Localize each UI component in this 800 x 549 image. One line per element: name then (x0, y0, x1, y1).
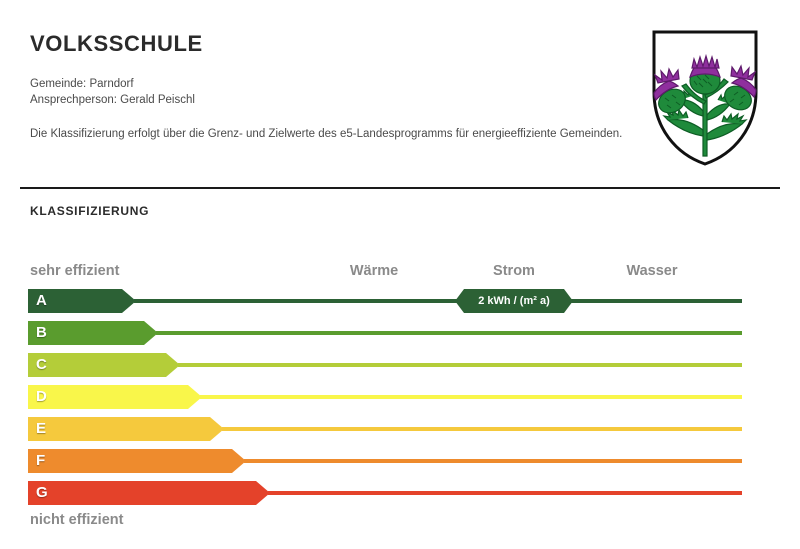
scale-row-a: A (28, 289, 742, 313)
scale-row-f: F (28, 449, 742, 473)
column-header-wasser: Wasser (626, 263, 677, 279)
scale-label-efficient: sehr effizient (30, 263, 119, 279)
bar-body-g (28, 481, 270, 505)
scale-row-d: D (28, 385, 742, 409)
bar-tail-e (222, 427, 742, 431)
bar-letter-a: A (36, 289, 47, 313)
bar-body-c (28, 353, 180, 377)
bar-letter-g: G (36, 481, 48, 505)
bar-body-b (28, 321, 158, 345)
bar-letter-d: D (36, 385, 47, 409)
bar-tail-b (156, 331, 742, 335)
scale-label-inefficient: nicht effizient (30, 512, 123, 528)
scale-row-b: B (28, 321, 742, 345)
bar-body-e (28, 417, 224, 441)
bar-tail-d (200, 395, 742, 399)
bar-letter-b: B (36, 321, 47, 345)
bar-tail-f (244, 459, 742, 463)
column-header-wrme: Wärme (350, 263, 398, 279)
bar-letter-f: F (36, 449, 45, 473)
bar-body-d (28, 385, 202, 409)
bar-tail-a (134, 299, 742, 303)
bar-letter-e: E (36, 417, 46, 441)
scale-row-e: E (28, 417, 742, 441)
scale-row-c: C (28, 353, 742, 377)
bar-tail-c (178, 363, 742, 367)
column-header-strom: Strom (493, 263, 535, 279)
scale-row-g: G (28, 481, 742, 505)
bar-body-f (28, 449, 246, 473)
efficiency-scale: sehr effizient nicht effizient WärmeStro… (0, 0, 800, 549)
value-badge-text: 2 kWh / (m² a) (455, 289, 573, 313)
bar-tail-g (268, 491, 742, 495)
energy-certificate-page: VOLKSSCHULE Gemeinde: Parndorf Ansprechp… (0, 0, 800, 549)
value-badge-a-strom: 2 kWh / (m² a) (455, 289, 573, 313)
bar-letter-c: C (36, 353, 47, 377)
